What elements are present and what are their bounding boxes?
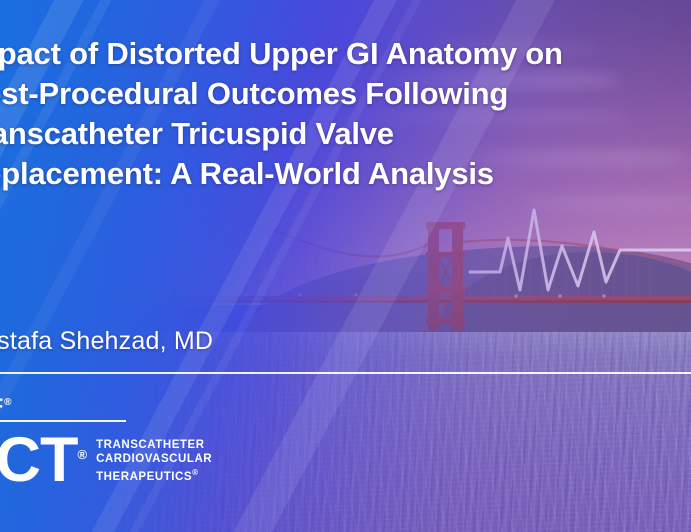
crf-registered-mark: ®: [4, 397, 11, 408]
slide-title: Impact of Distorted Upper GI Anatomy on …: [0, 34, 691, 194]
title-line-1: Impact of Distorted Upper GI Anatomy on: [0, 34, 691, 74]
tagline-registered-mark: ®: [192, 468, 198, 477]
title-line-2: Post-Procedural Outcomes Following: [0, 74, 691, 114]
tct-wordmark: TCT®: [0, 425, 87, 490]
logo-rule: [0, 420, 126, 422]
tagline-line-1: TRANSCATHETER: [96, 438, 212, 452]
tagline-line-3-text: THERAPEUTICS: [96, 471, 192, 483]
crf-wordmark: CRF®: [0, 392, 286, 418]
title-slide: Impact of Distorted Upper GI Anatomy on …: [0, 0, 691, 532]
tct-text: TCT: [0, 425, 77, 495]
crf-tct-logo: CRF® TCT® TRANSCATHETER CARDIOVASCULAR T…: [0, 392, 286, 490]
presenter-name: Mustafa Shehzad, MD: [0, 327, 213, 356]
title-line-3: Transcatheter Tricuspid Valve: [0, 114, 691, 154]
horizontal-divider: [0, 372, 691, 374]
tagline-line-3: THERAPEUTICS®: [96, 466, 212, 484]
tct-tagline: TRANSCATHETER CARDIOVASCULAR THERAPEUTIC…: [96, 438, 212, 484]
title-line-4: Replacement: A Real-World Analysis: [0, 154, 691, 194]
tct-registered-mark: ®: [77, 447, 87, 462]
tagline-line-2: CARDIOVASCULAR: [96, 452, 212, 466]
